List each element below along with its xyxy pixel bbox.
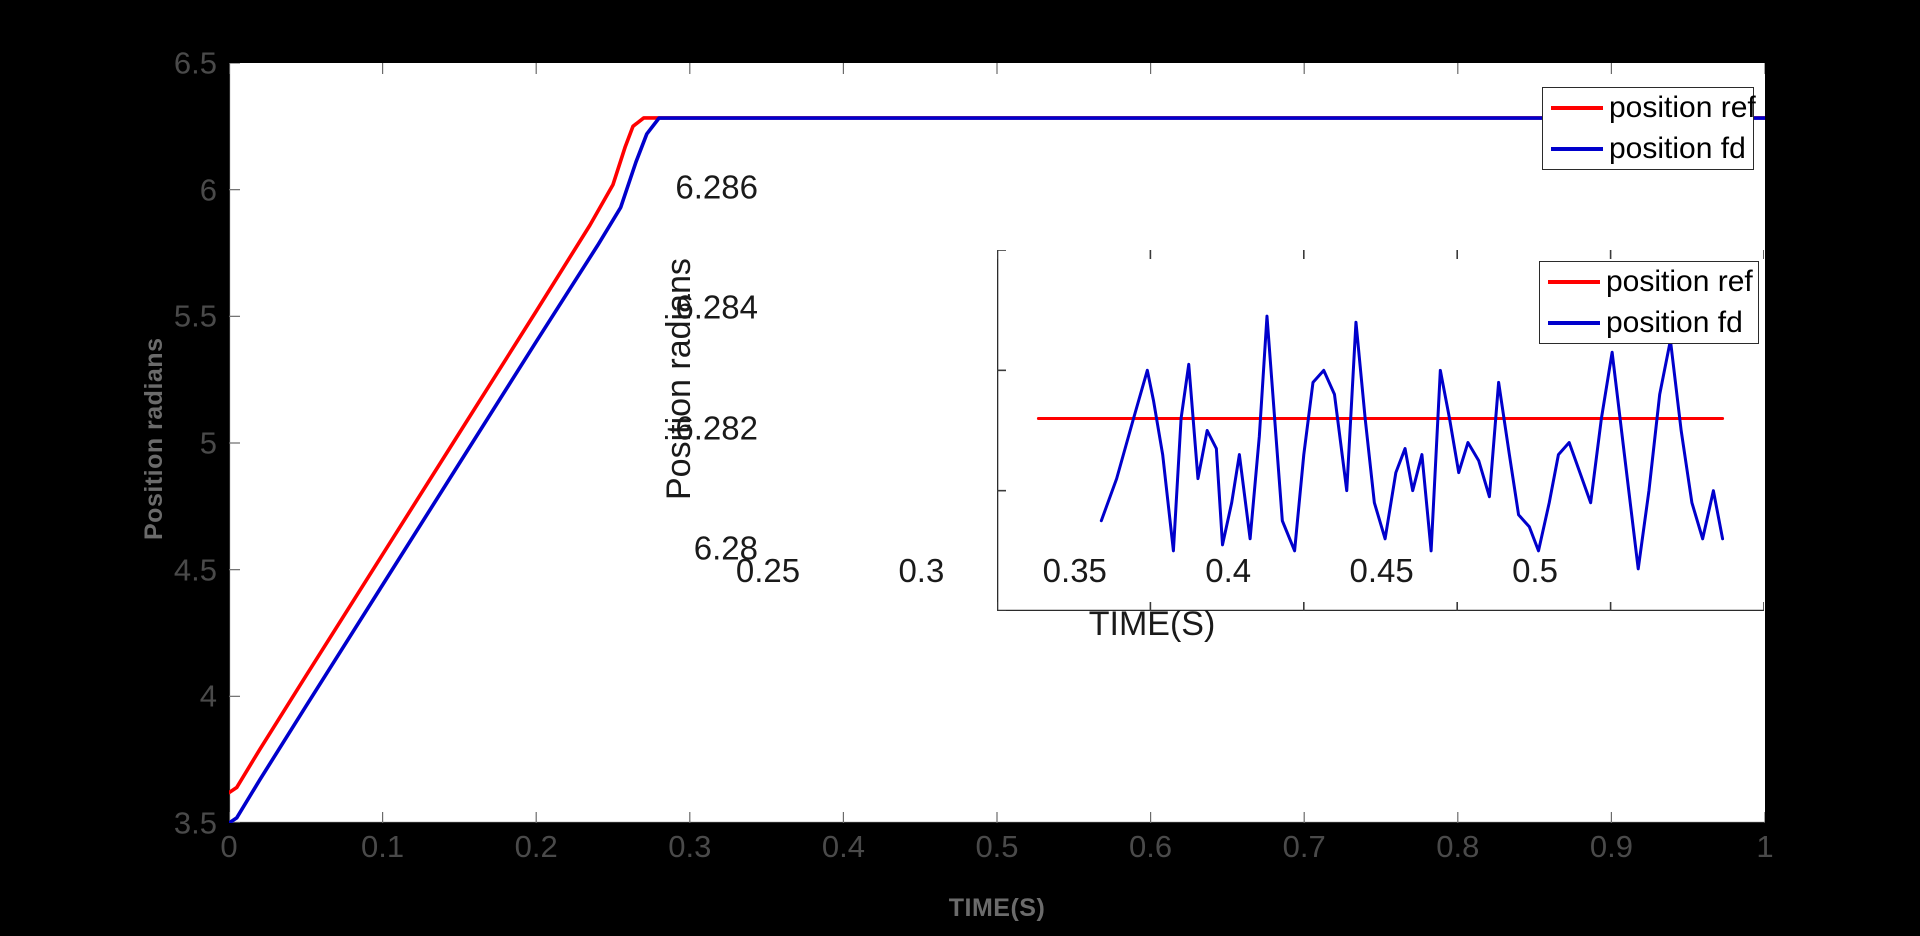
inset-xlabel: TIME(S) — [1089, 605, 1216, 644]
main-xtick-label: 1 — [1756, 831, 1773, 862]
main-xtick-label: 0.2 — [515, 831, 558, 862]
main-ytick-label: 6.5 — [174, 48, 217, 79]
main-xtick-label: 0.5 — [975, 831, 1018, 862]
legend-label-ref: position ref — [1609, 93, 1756, 123]
main-ytick-label: 5.5 — [174, 301, 217, 332]
inset-xtick-label: 0.3 — [898, 554, 944, 587]
figure-canvas: position ref position fd position ref po… — [0, 0, 1920, 936]
main-ytick-label: 6 — [200, 174, 217, 205]
series-line-position-fd — [1101, 316, 1722, 569]
main-xtick-label: 0.6 — [1129, 831, 1172, 862]
inset-ytick-label: 6.286 — [675, 171, 758, 204]
inset-legend-item-position-fd[interactable]: position fd — [1540, 303, 1758, 344]
inset-legend-label-ref: position ref — [1606, 267, 1753, 297]
inset-ylabel: Position radians — [660, 258, 699, 500]
legend-swatch-ref — [1551, 106, 1603, 110]
main-ytick-label: 5 — [200, 428, 217, 459]
main-xtick-label: 0.8 — [1436, 831, 1479, 862]
legend-swatch-fd — [1551, 147, 1603, 151]
inset-xtick-label: 0.5 — [1512, 554, 1558, 587]
main-xtick-label: 0.9 — [1590, 831, 1633, 862]
legend-item-position-fd[interactable]: position fd — [1543, 129, 1753, 170]
legend-label-fd: position fd — [1609, 134, 1746, 164]
main-ytick-label: 3.5 — [174, 808, 217, 839]
main-xtick-label: 0.3 — [668, 831, 711, 862]
main-axes: position ref position fd position ref po… — [229, 63, 1765, 823]
main-xlabel: TIME(S) — [949, 894, 1046, 923]
main-ytick-label: 4 — [200, 681, 217, 712]
legend-item-position-ref[interactable]: position ref — [1543, 88, 1753, 129]
inset-legend-item-position-ref[interactable]: position ref — [1540, 262, 1758, 303]
inset-legend-label-fd: position fd — [1606, 308, 1743, 338]
inset-xtick-label: 0.4 — [1205, 554, 1251, 587]
inset-xtick-label: 0.45 — [1349, 554, 1413, 587]
inset-xtick-label: 0.35 — [1043, 554, 1107, 587]
main-ylabel: Position radians — [140, 338, 169, 540]
inset-legend[interactable]: position ref position fd — [1539, 261, 1759, 344]
inset-xtick-label: 0.25 — [736, 554, 800, 587]
main-xtick-label: 0.7 — [1283, 831, 1326, 862]
main-xtick-label: 0 — [220, 831, 237, 862]
main-legend[interactable]: position ref position fd — [1542, 87, 1754, 170]
main-xtick-label: 0.4 — [822, 831, 865, 862]
main-xtick-label: 0.1 — [361, 831, 404, 862]
main-ytick-label: 4.5 — [174, 554, 217, 585]
inset-legend-swatch-fd — [1548, 321, 1600, 325]
inset-legend-swatch-ref — [1548, 280, 1600, 284]
